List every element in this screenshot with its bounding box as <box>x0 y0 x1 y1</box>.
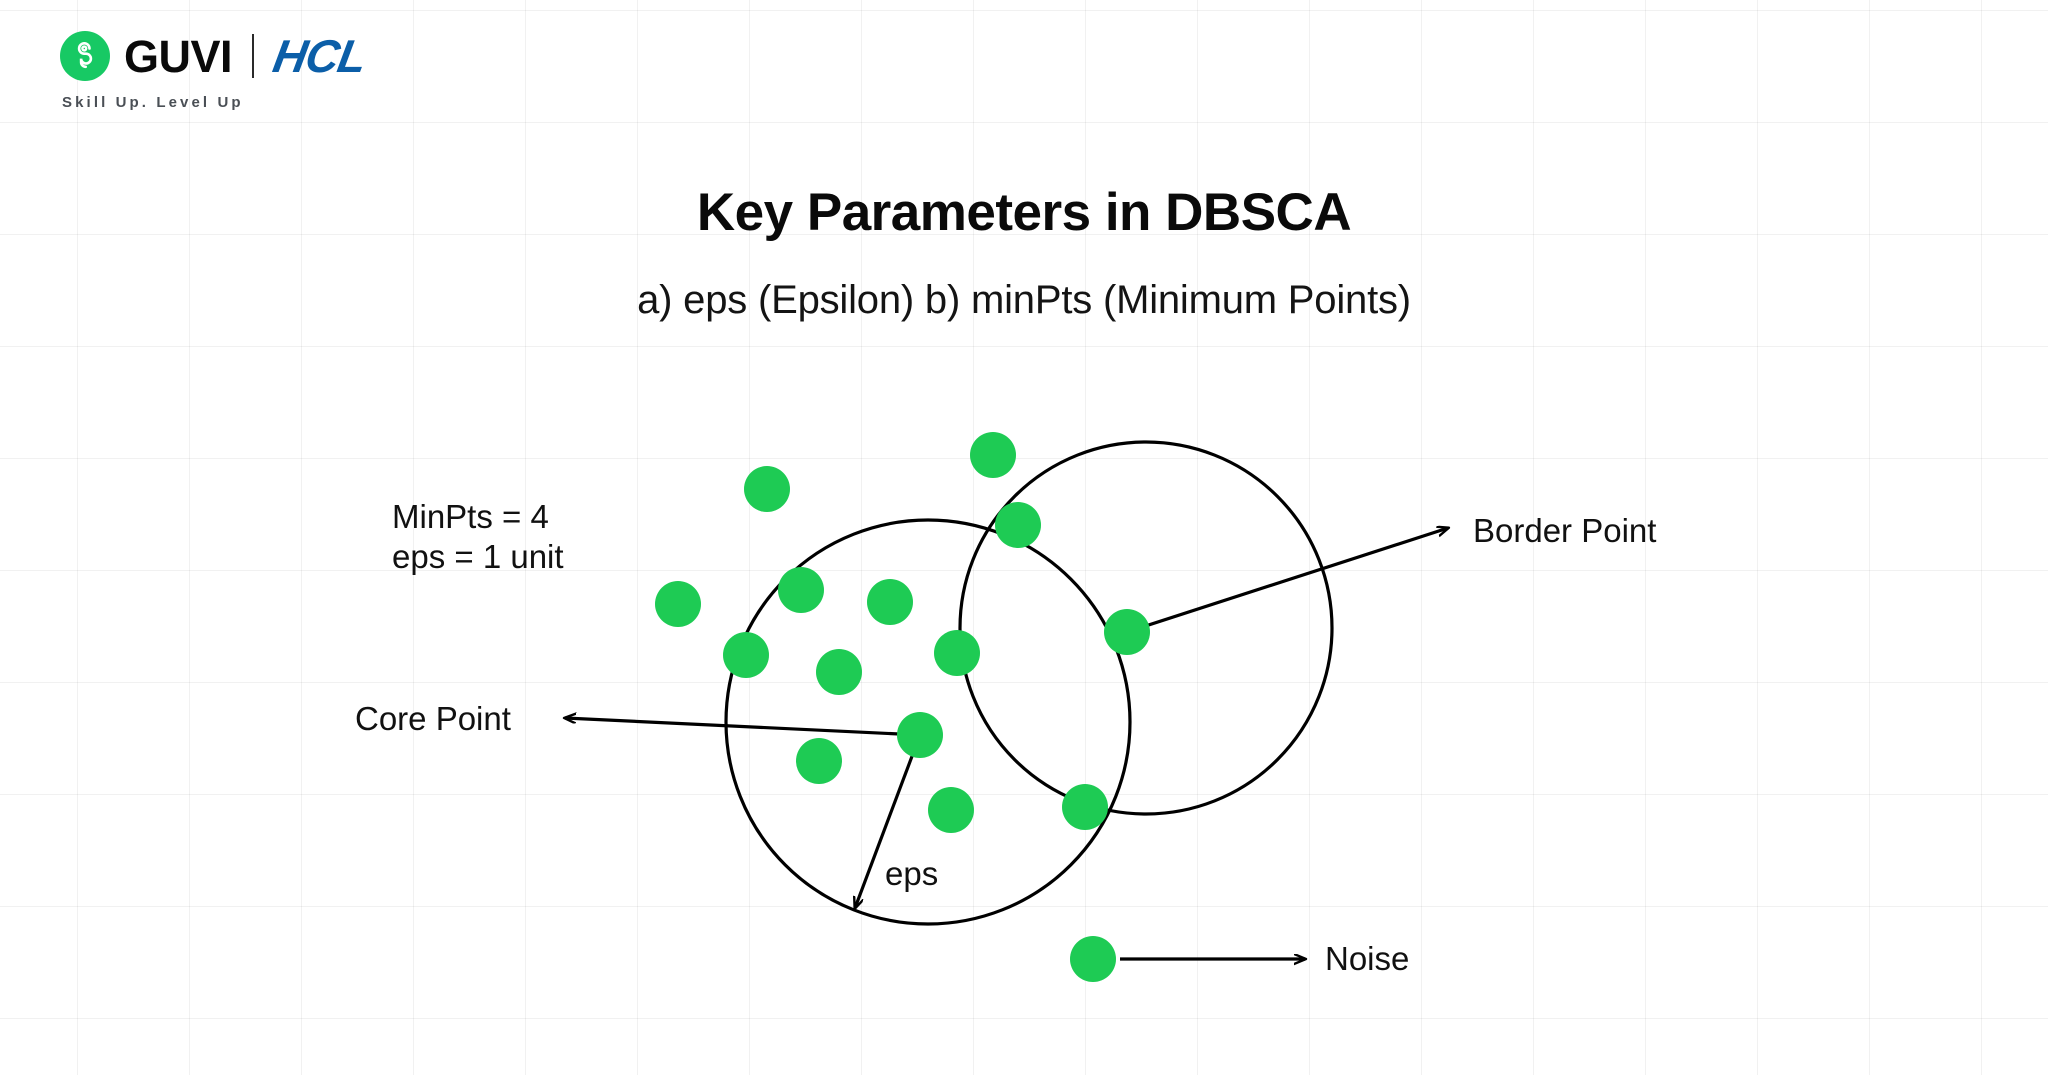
noise-label: Noise <box>1325 940 1409 978</box>
callout-arrow-core-point <box>565 718 920 735</box>
data-point-core <box>816 649 862 695</box>
data-point-core <box>778 567 824 613</box>
data-point-core <box>897 712 943 758</box>
data-point-noise <box>1070 936 1116 982</box>
data-point-core <box>723 632 769 678</box>
border-point-label: Border Point <box>1473 512 1656 550</box>
dbscan-diagram <box>0 0 2048 1075</box>
data-point-core <box>796 738 842 784</box>
data-point-core <box>867 579 913 625</box>
data-point-core <box>934 630 980 676</box>
eps-radius-label: eps <box>885 855 938 893</box>
eps-value-label: eps = 1 unit <box>392 537 564 577</box>
data-point-noise <box>655 581 701 627</box>
data-point-core <box>995 502 1041 548</box>
data-point-core <box>928 787 974 833</box>
data-points-group <box>655 432 1150 982</box>
minpts-label: MinPts = 4 <box>392 497 564 537</box>
parameters-annotation: MinPts = 4 eps = 1 unit <box>392 497 564 578</box>
data-point-border <box>1104 609 1150 655</box>
data-point-border <box>1062 784 1108 830</box>
data-point-noise <box>744 466 790 512</box>
data-point-noise <box>970 432 1016 478</box>
core-point-label: Core Point <box>355 700 511 738</box>
callout-arrow-border-point <box>1127 528 1448 632</box>
